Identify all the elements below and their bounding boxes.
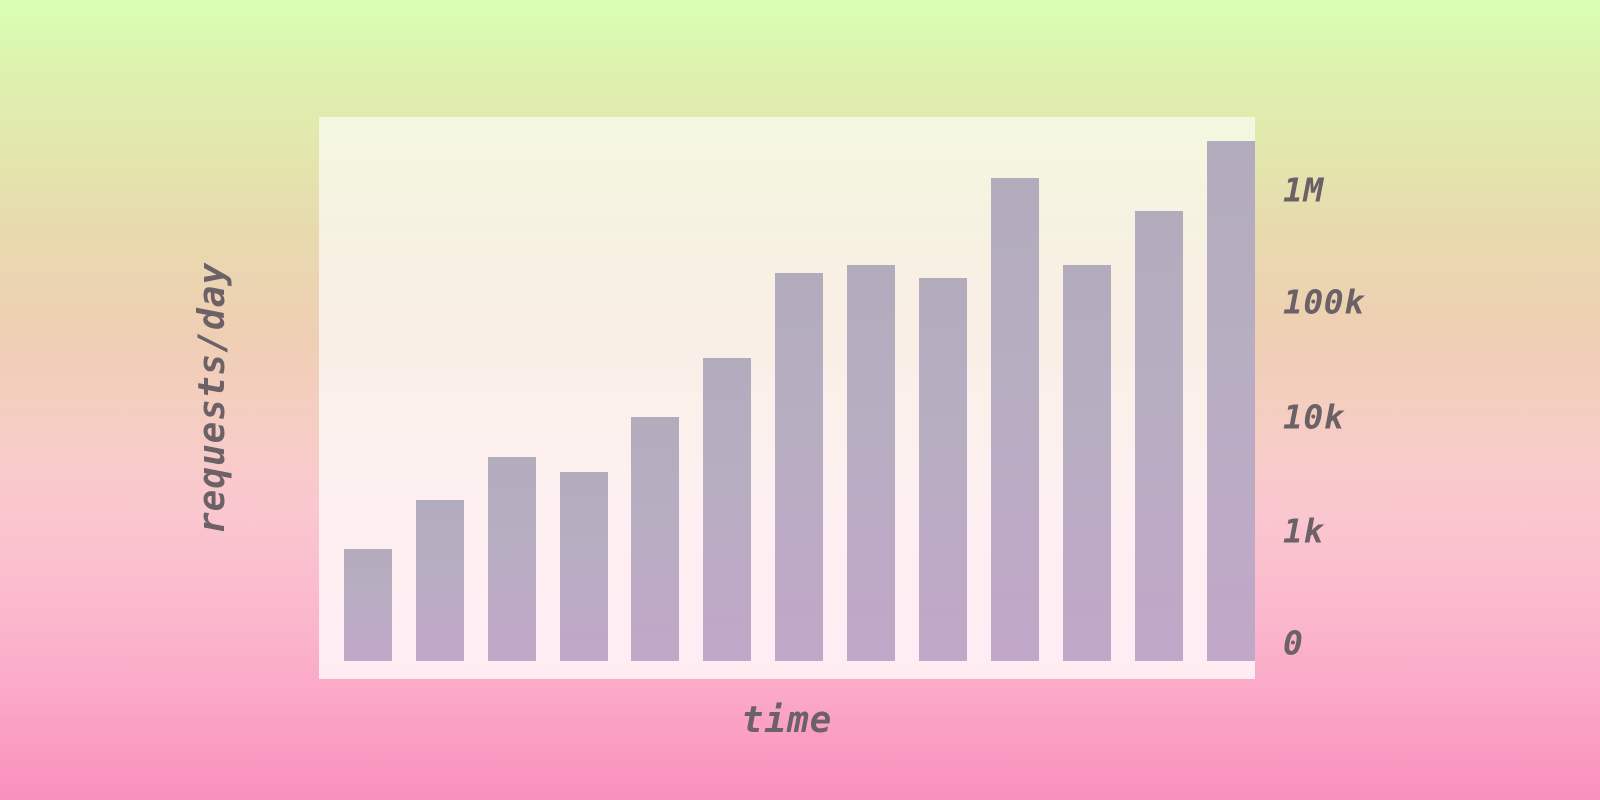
y-axis-title: requests/day — [193, 233, 233, 563]
bar — [1207, 141, 1255, 661]
plot-area — [319, 117, 1255, 679]
bar — [416, 500, 464, 661]
bar — [919, 278, 967, 661]
y-axis-tick-label: 10k — [1283, 401, 1344, 434]
chart-figure: 1M100k10k1k0 requests/day time — [0, 0, 1600, 800]
bar — [1135, 211, 1183, 661]
x-axis-title: time — [319, 700, 1255, 742]
bar — [631, 417, 679, 661]
bar — [1063, 265, 1111, 661]
bar — [703, 358, 751, 661]
bar — [488, 457, 536, 661]
y-axis-tick-label: 1k — [1283, 515, 1324, 548]
y-axis-tick-label: 1M — [1283, 174, 1324, 207]
bar — [775, 273, 823, 661]
y-axis-tick-label: 0 — [1283, 627, 1303, 660]
bar — [560, 472, 608, 661]
bar-series — [319, 117, 1255, 679]
bar — [344, 549, 392, 661]
y-axis-tick-label: 100k — [1283, 286, 1364, 319]
bar — [847, 265, 895, 661]
bar — [991, 178, 1039, 661]
